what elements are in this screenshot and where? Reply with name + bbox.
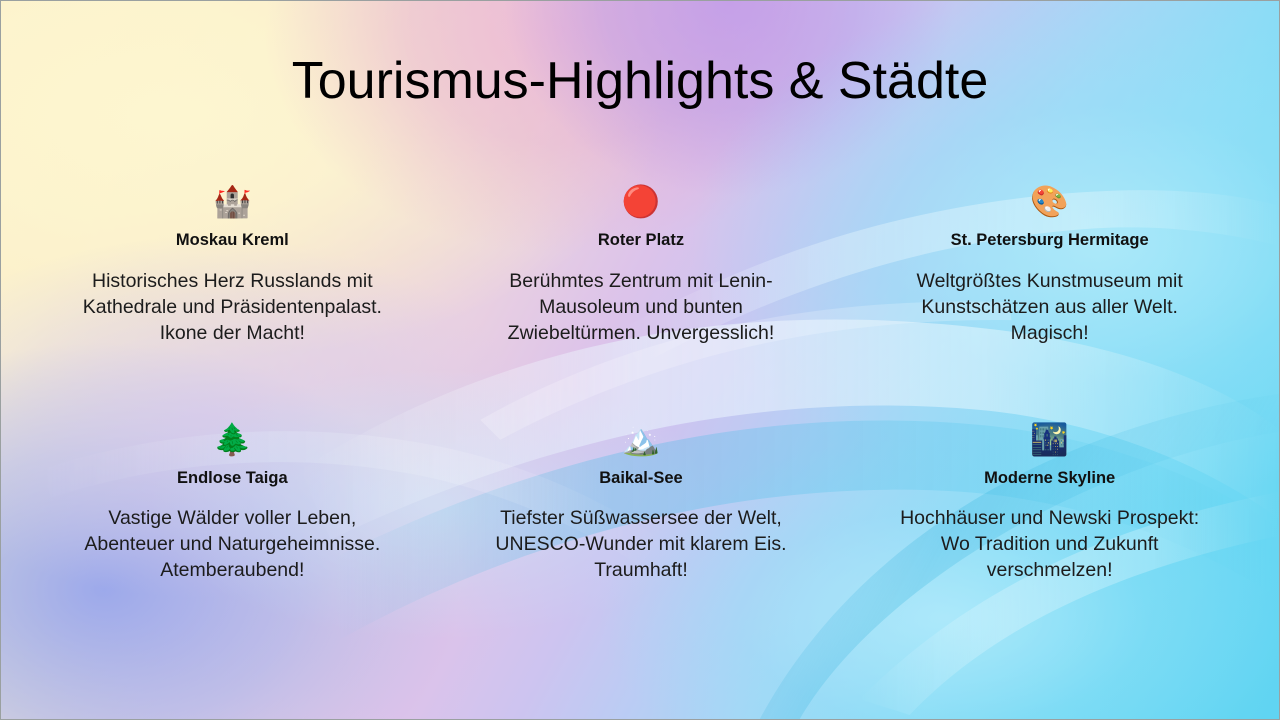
highlight-card[interactable]: 🌲 Endlose Taiga Vastige Wälder voller Le… xyxy=(33,421,432,583)
red-circle-icon: 🔴 xyxy=(622,183,661,221)
highlight-card[interactable]: 🔴 Roter Platz Berühmtes Zentrum mit Leni… xyxy=(442,183,841,421)
card-description: Weltgrößtes Kunstmuseum mit Kunstschätze… xyxy=(895,268,1205,346)
card-description: Hochhäuser und Newski Prospekt: Wo Tradi… xyxy=(895,505,1205,583)
highlight-card[interactable]: 🏔️ Baikal-See Tiefster Süßwassersee der … xyxy=(442,421,841,583)
card-description: Tiefster Süßwassersee der Welt, UNESCO-W… xyxy=(486,505,796,583)
castle-icon: 🏰 xyxy=(213,183,252,221)
card-title: Moderne Skyline xyxy=(984,469,1115,489)
snow-capped-mountain-icon: 🏔️ xyxy=(622,421,661,459)
highlights-grid: 🏰 Moskau Kreml Historisches Herz Russlan… xyxy=(33,183,1249,583)
night-cityscape-icon: 🌃 xyxy=(1030,421,1069,459)
card-description: Vastige Wälder voller Leben, Abenteuer u… xyxy=(77,505,387,583)
card-title: St. Petersburg Hermitage xyxy=(951,231,1149,251)
highlight-card[interactable]: 🎨 St. Petersburg Hermitage Weltgrößtes K… xyxy=(850,183,1249,421)
page-title: Tourismus-Highlights & Städte xyxy=(1,53,1279,110)
slide-content: Tourismus-Highlights & Städte 🏰 Moskau K… xyxy=(1,1,1279,719)
evergreen-tree-icon: 🌲 xyxy=(213,421,252,459)
artist-palette-icon: 🎨 xyxy=(1030,183,1069,221)
card-title: Roter Platz xyxy=(598,231,684,251)
highlight-card[interactable]: 🌃 Moderne Skyline Hochhäuser und Newski … xyxy=(850,421,1249,583)
card-title: Moskau Kreml xyxy=(176,231,289,251)
highlight-card[interactable]: 🏰 Moskau Kreml Historisches Herz Russlan… xyxy=(33,183,432,421)
card-title: Baikal-See xyxy=(599,469,682,489)
card-title: Endlose Taiga xyxy=(177,469,288,489)
card-description: Berühmtes Zentrum mit Lenin-Mausoleum un… xyxy=(486,268,796,346)
presentation-slide: Tourismus-Highlights & Städte 🏰 Moskau K… xyxy=(0,0,1280,720)
card-description: Historisches Herz Russlands mit Kathedra… xyxy=(77,268,387,346)
